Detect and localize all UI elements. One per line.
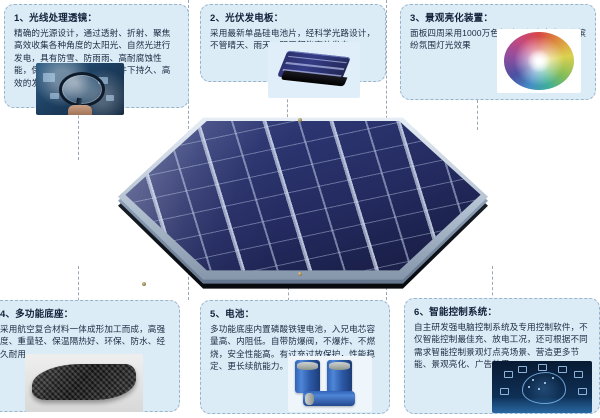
card-image-magnifier (36, 63, 124, 115)
card-title: 5、电池： (210, 308, 380, 321)
card-image-smart-city-brain (492, 361, 592, 413)
infographic-canvas: 1、光线处理透镜： 精确的光源设计，通过透射、折射、聚焦高效收集各种角度的太阳光… (0, 0, 600, 418)
card-image-color-wheel (497, 29, 581, 93)
card-title: 1、光线处理透镜： (14, 12, 179, 25)
card-title: 4、多功能底座： (0, 308, 170, 321)
card-image-pv-module (268, 42, 360, 98)
card-title: 2、光伏发电板： (210, 12, 376, 25)
card-title: 3、景观亮化装置： (410, 12, 586, 25)
panel-screw-bottom (298, 272, 302, 276)
card-image-lithium-cells (288, 356, 372, 412)
panel-glare (118, 112, 488, 292)
panel-screw-top (298, 118, 302, 122)
panel-screw-left (142, 282, 146, 286)
card-image-carbon-fiber (25, 354, 143, 412)
hexagonal-solar-panel (118, 112, 488, 292)
card-title: 6、智能控制系统： (414, 306, 590, 319)
